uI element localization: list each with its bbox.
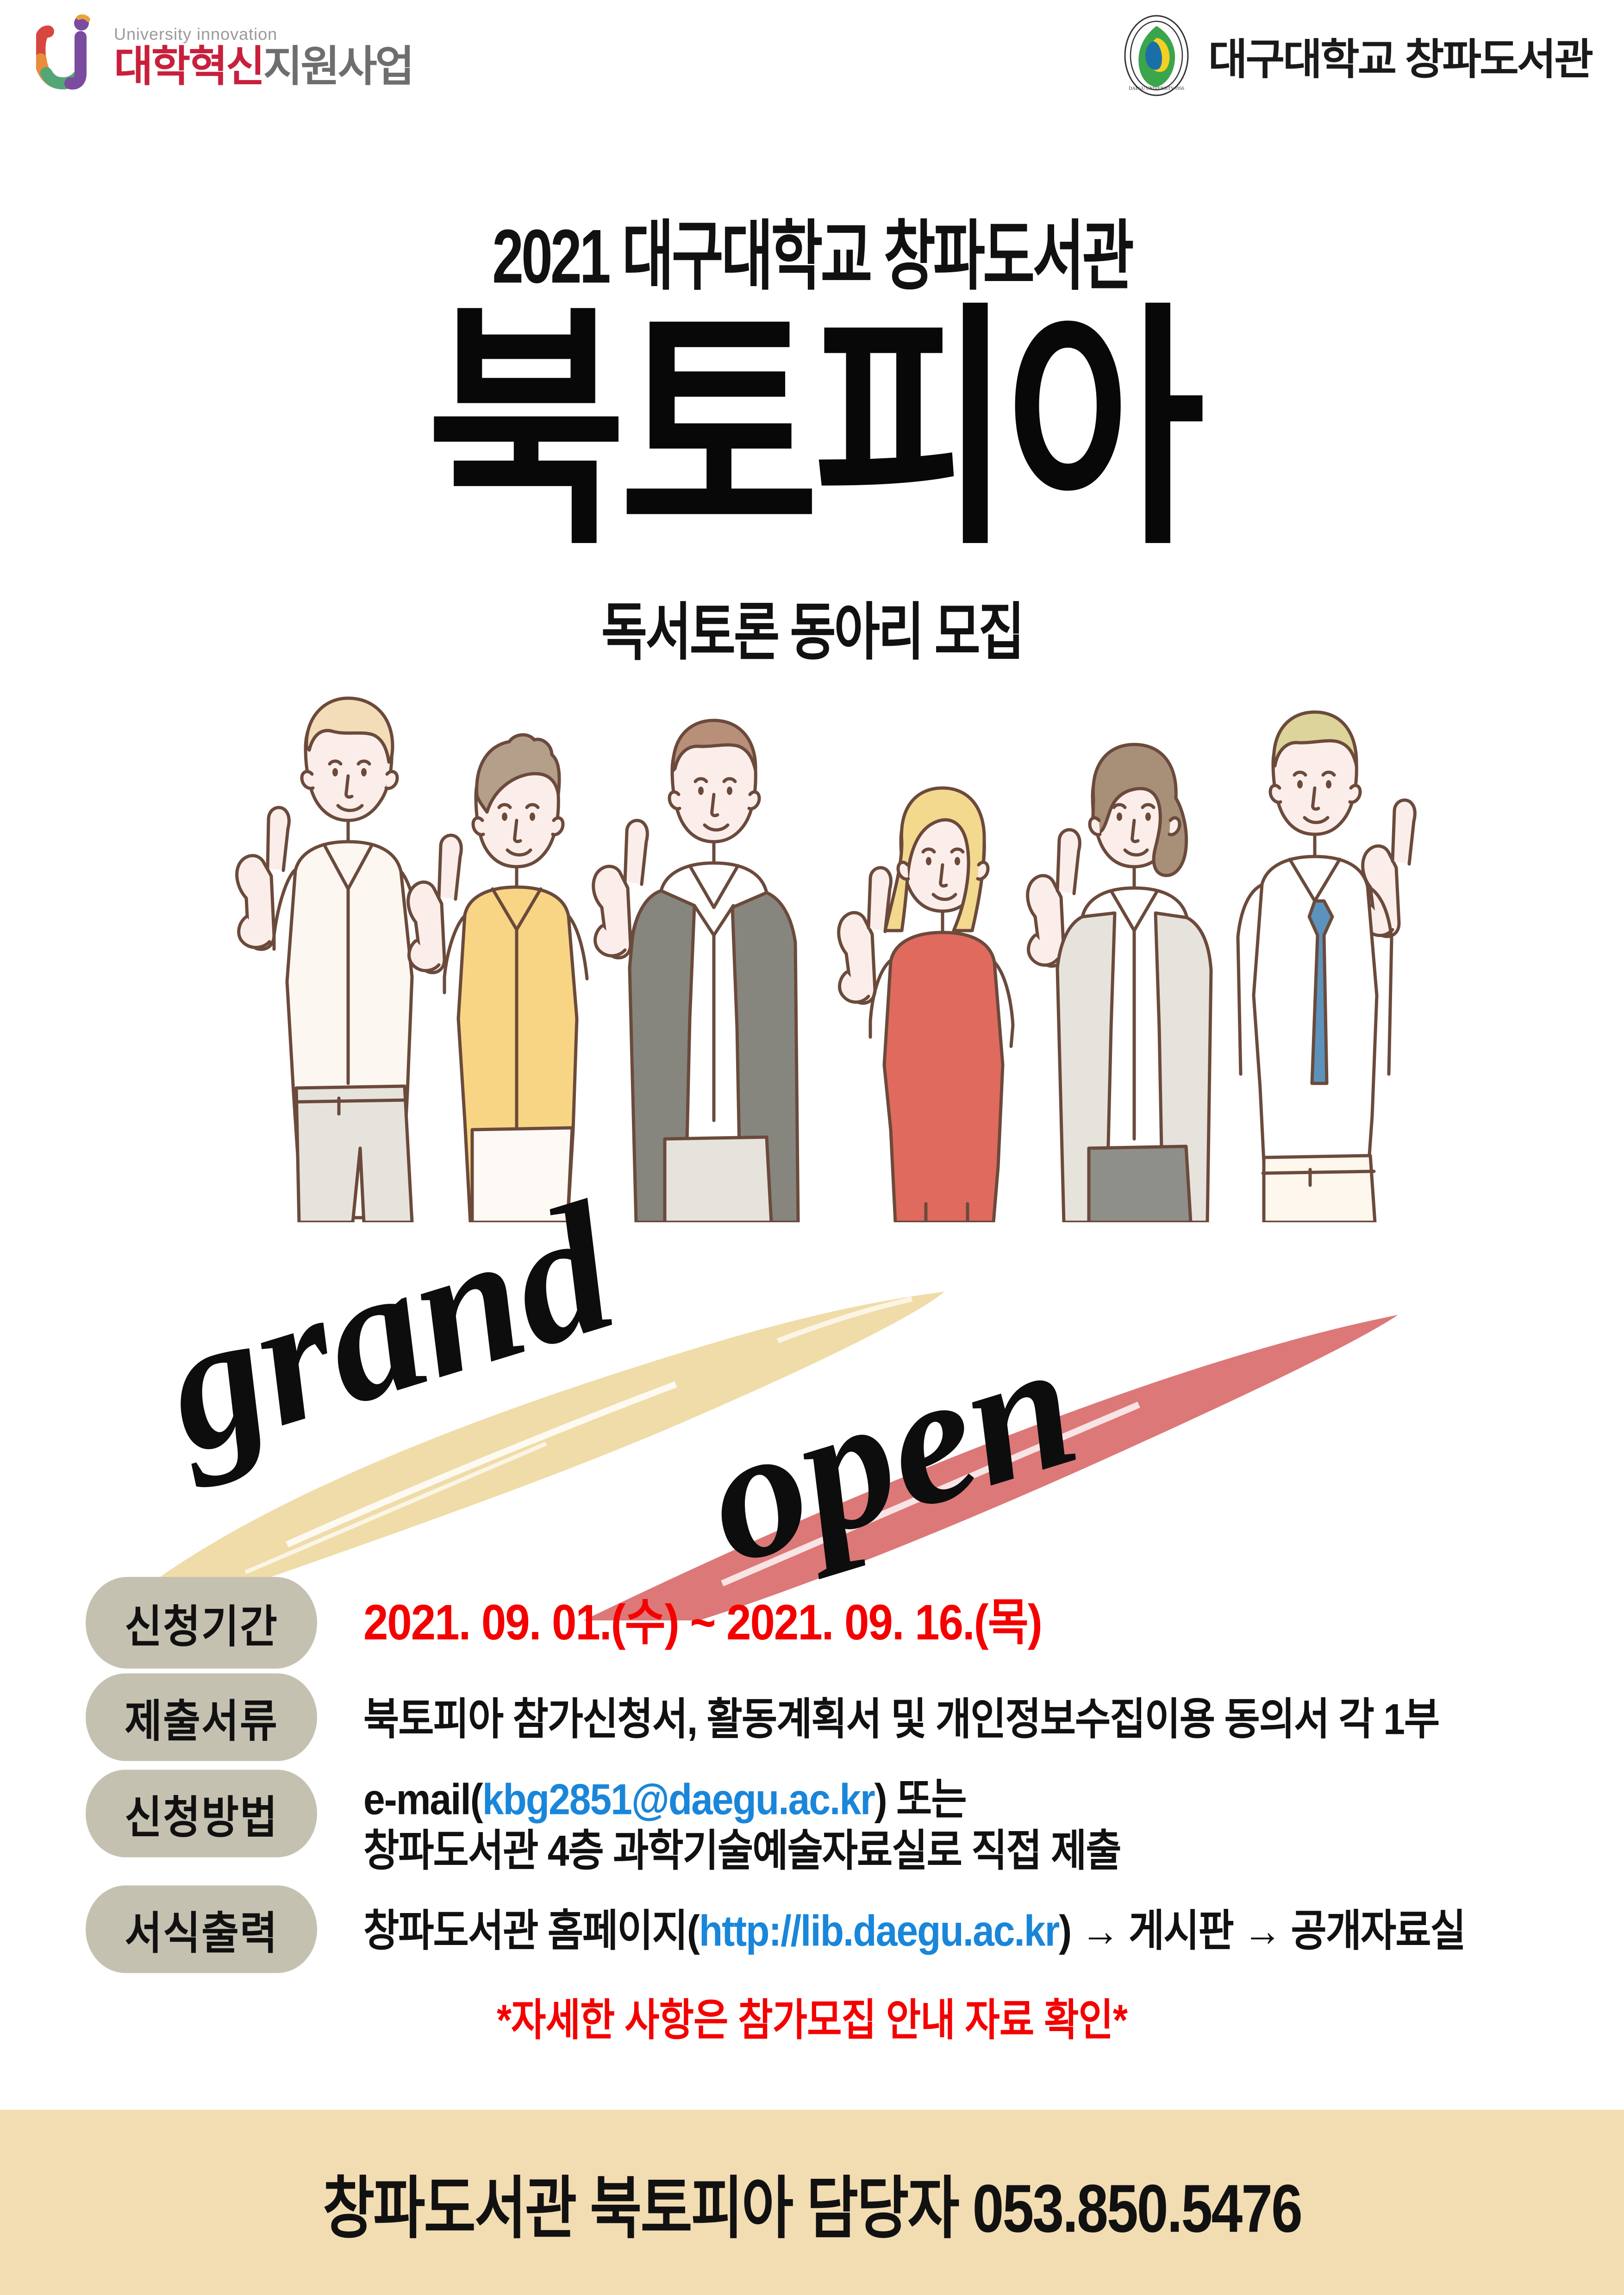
info-row-application-method: 신청방법 e-mail(kbg2851@daegu.ac.kr) 또는 창파도서… bbox=[0, 1774, 1624, 1876]
application-period-value: 2021. 09. 01.(수) ~ 2021. 09. 16.(목) bbox=[363, 1590, 1624, 1656]
library-homepage-link[interactable]: http://lib.daegu.ac.kr bbox=[699, 1907, 1059, 1955]
logo-korean-red: 대학혁신 bbox=[114, 43, 263, 90]
poster-root: University innovation 대학혁신지원사업 DAEGU UNI… bbox=[0, 0, 1624, 2295]
ui-logo-mark-icon bbox=[36, 13, 106, 101]
info-row-required-documents-text: 북토피아 참가신청서, 활동계획서 및 개인정보수집이용 동의서 각 1부 bbox=[317, 1677, 1624, 1761]
badge-form-download: 서식출력 bbox=[86, 1885, 317, 1973]
grand-open-artwork: grand open bbox=[130, 1176, 1509, 1620]
library-logo-text: 대구대학교 창파도서관 bbox=[1208, 25, 1592, 87]
homepage-prefix: 창파도서관 홈페이지( bbox=[363, 1907, 699, 1955]
daegu-university-emblem-icon: DAEGU UNIVERSITY 1956 bbox=[1115, 14, 1198, 97]
info-row-application-method-text: e-mail(kbg2851@daegu.ac.kr) 또는 창파도서관 4층 … bbox=[317, 1774, 1624, 1876]
info-row-required-documents: 제출서류 북토피아 참가신청서, 활동계획서 및 개인정보수집이용 동의서 각 … bbox=[0, 1677, 1624, 1761]
application-method-line-2: 창파도서관 4층 과학기술예술자료실로 직접 제출 bbox=[363, 1822, 1624, 1879]
application-method-line-1: e-mail(kbg2851@daegu.ac.kr) 또는 bbox=[363, 1770, 1624, 1828]
poster-title-block: 2021 대구대학교 창파도서관 북토피아 독서토론 동아리 모집 bbox=[0, 194, 1624, 654]
poster-footer: 창파도서관 북토피아 담당자 053.850.5476 bbox=[0, 2110, 1624, 2295]
footer-contact-text: 창파도서관 북토피아 담당자 053.850.5476 bbox=[323, 2153, 1301, 2251]
info-section: 신청기간 2021. 09. 01.(수) ~ 2021. 09. 16.(목)… bbox=[0, 1581, 1624, 2044]
email-prefix: e-mail( bbox=[363, 1775, 482, 1823]
logo-korean-gray: 지원사업 bbox=[263, 43, 413, 90]
people-thumbs-up-illustration bbox=[139, 611, 1518, 1222]
poster-header: University innovation 대학혁신지원사업 DAEGU UNI… bbox=[0, 0, 1624, 139]
logo-english-text: University innovation bbox=[114, 26, 412, 43]
badge-application-method: 신청방법 bbox=[86, 1770, 317, 1857]
homepage-path-suffix: ) → 게시판 → 공개자료실 bbox=[1059, 1907, 1465, 1955]
daegu-university-library-logo: DAEGU UNIVERSITY 1956 대구대학교 창파도서관 bbox=[1115, 14, 1592, 97]
email-address-link[interactable]: kbg2851@daegu.ac.kr bbox=[482, 1775, 874, 1823]
svg-text:DAEGU UNIVERSITY 1956: DAEGU UNIVERSITY 1956 bbox=[1129, 86, 1184, 91]
additional-info-note: *자세한 사항은 참가모집 안내 자료 확인* bbox=[0, 1984, 1624, 2048]
badge-required-documents: 제출서류 bbox=[86, 1673, 317, 1761]
info-row-form-download-text: 창파도서관 홈페이지(http://lib.daegu.ac.kr) → 게시판… bbox=[317, 1889, 1624, 1973]
info-row-form-download: 서식출력 창파도서관 홈페이지(http://lib.daegu.ac.kr) … bbox=[0, 1889, 1624, 1973]
badge-application-period: 신청기간 bbox=[86, 1577, 317, 1669]
info-row-application-period-text: 2021. 09. 01.(수) ~ 2021. 09. 16.(목) bbox=[317, 1581, 1624, 1664]
poster-main-title: 북토피아 bbox=[0, 313, 1624, 549]
email-suffix: ) 또는 bbox=[874, 1775, 966, 1823]
university-innovation-logo: University innovation 대학혁신지원사업 bbox=[36, 13, 412, 101]
info-row-application-period: 신청기간 2021. 09. 01.(수) ~ 2021. 09. 16.(목) bbox=[0, 1581, 1624, 1664]
required-documents-value: 북토피아 참가신청서, 활동계획서 및 개인정보수집이용 동의서 각 1부 bbox=[363, 1690, 1624, 1748]
form-download-line: 창파도서관 홈페이지(http://lib.daegu.ac.kr) → 게시판… bbox=[363, 1902, 1624, 1960]
